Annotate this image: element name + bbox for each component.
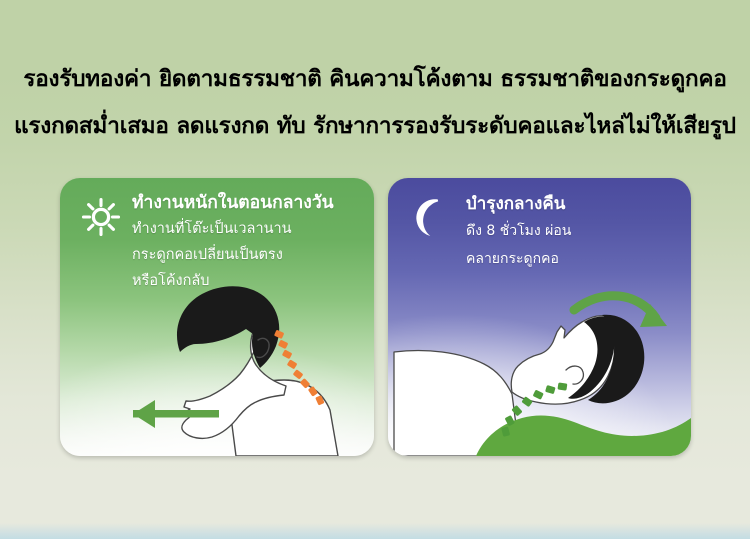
moon-icon (406, 194, 452, 240)
headline-line-2: แรงกดสม่ำเสมอ ลดแรงกด ทับ รักษาการรองรับ… (0, 103, 750, 150)
headline: รองรับทองค่า ยิดตามธรรมชาติ คินความโค้งต… (0, 56, 750, 150)
day-panel-sub-2: กระดูกคอเปลี่ยนเป็นตรง (132, 242, 334, 268)
day-panel-title: ทำงานหนักในตอนกลางวัน (132, 190, 334, 216)
night-panel-sub-1: ดึง 8 ชั่วโมง ผ่อน (466, 217, 571, 245)
day-illustration (60, 266, 374, 456)
sun-icon (78, 194, 124, 240)
night-panel-text: บำรุงกลางคืน ดึง 8 ชั่วโมง ผ่อน คลายกระด… (466, 191, 571, 273)
night-panel: บำรุงกลางคืน ดึง 8 ชั่วโมง ผ่อน คลายกระด… (388, 178, 691, 456)
day-panel: ทำงานหนักในตอนกลางวัน ทำงานที่โต๊ะเป็นเว… (60, 178, 374, 456)
headline-line-1: รองรับทองค่า ยิดตามธรรมชาติ คินความโค้งต… (0, 56, 750, 103)
day-panel-sub-1: ทำงานที่โต๊ะเป็นเวลานาน (132, 216, 334, 242)
night-illustration (388, 266, 691, 456)
night-panel-title: บำรุงกลางคืน (466, 191, 571, 217)
poster-root: รองรับทองค่า ยิดตามธรรมชาติ คินความโค้งต… (0, 0, 750, 539)
